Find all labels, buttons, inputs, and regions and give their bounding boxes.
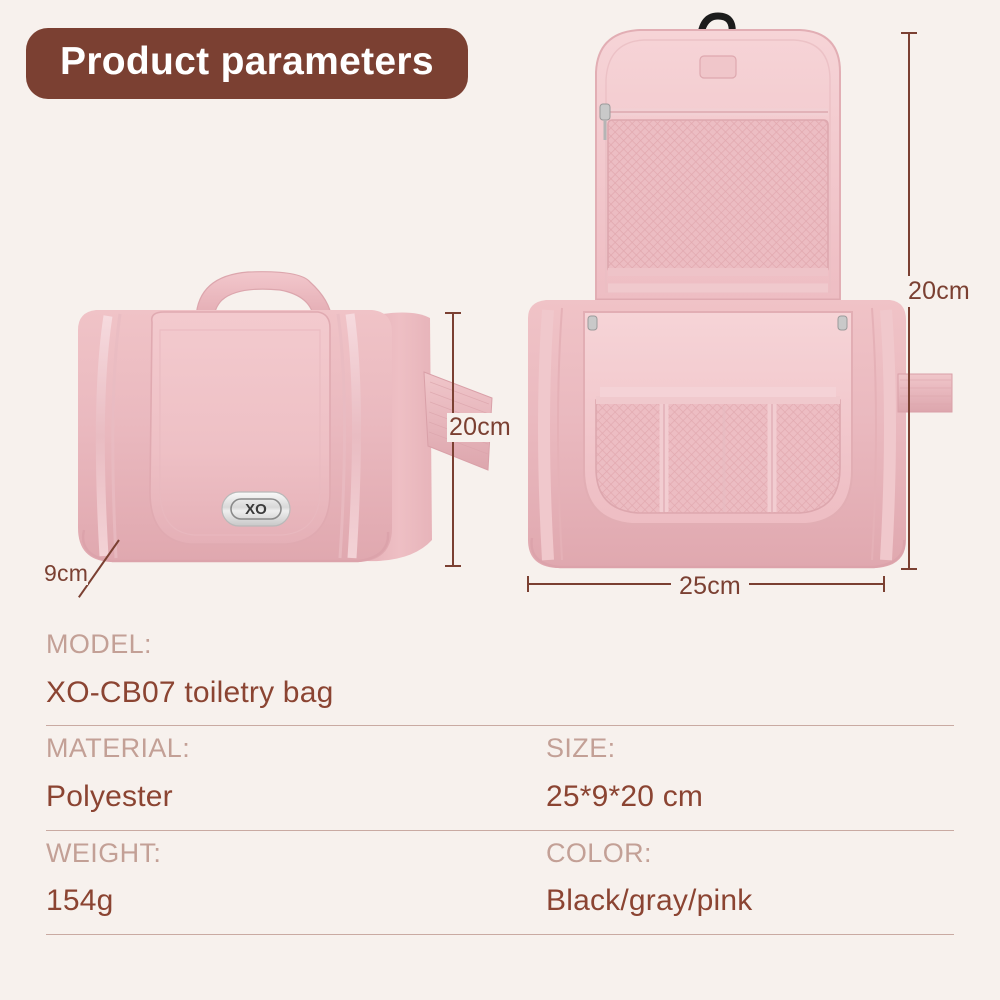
spec-cell-material: MATERIAL: Polyester [46,732,546,815]
spec-value-weight: 154g [46,882,546,920]
spec-value-size: 25*9*20 cm [546,778,954,816]
dimension-label-width-right: 25cm [671,572,749,601]
spec-cell-weight: WEIGHT: 154g [46,837,546,920]
open-bag-photo [528,16,952,568]
product-photo-area: XO [0,0,1000,615]
dimension-cap-top-left [445,312,461,314]
dimension-label-depth-left: 9cm [44,562,88,585]
spec-label-color: COLOR: [546,837,954,871]
dimension-label-height-left: 20cm [447,413,513,442]
spec-label-weight: WEIGHT: [46,837,546,871]
dimension-cap-top-right [901,32,917,34]
spec-label-model: MODEL: [46,628,546,662]
spec-cell-model: MODEL: XO-CB07 toiletry bag [46,628,546,711]
spec-value-color: Black/gray/pink [546,882,954,920]
spec-value-model: XO-CB07 toiletry bag [46,674,546,712]
spec-value-material: Polyester [46,778,546,816]
zipper-pull-left-icon [588,316,597,330]
svg-text:XO: XO [245,501,267,518]
product-parameters-page: Product parameters [0,0,1000,1000]
zipper-pull-right-icon [838,316,847,330]
dimension-cap-left-width [527,576,529,592]
closed-bag-photo: XO [78,272,492,562]
spec-cell-color: COLOR: Black/gray/pink [546,837,954,920]
spec-label-size: SIZE: [546,732,954,766]
spec-row-material-size: MATERIAL: Polyester SIZE: 25*9*20 cm [46,726,954,830]
product-photos-illustration: XO [0,0,1000,615]
dimension-cap-bottom-right [901,568,917,570]
xo-logo-badge: XO [222,492,290,526]
spec-label-material: MATERIAL: [46,732,546,766]
spec-row-model: MODEL: XO-CB07 toiletry bag [46,622,954,726]
dimension-label-height-right: 20cm [906,276,972,307]
spec-cell-size: SIZE: 25*9*20 cm [546,732,954,815]
dimension-cap-right-width [883,576,885,592]
dimension-cap-bottom-left [445,565,461,567]
spec-table: MODEL: XO-CB07 toiletry bag MATERIAL: Po… [46,622,954,935]
spec-row-weight-color: WEIGHT: 154g COLOR: Black/gray/pink [46,831,954,935]
